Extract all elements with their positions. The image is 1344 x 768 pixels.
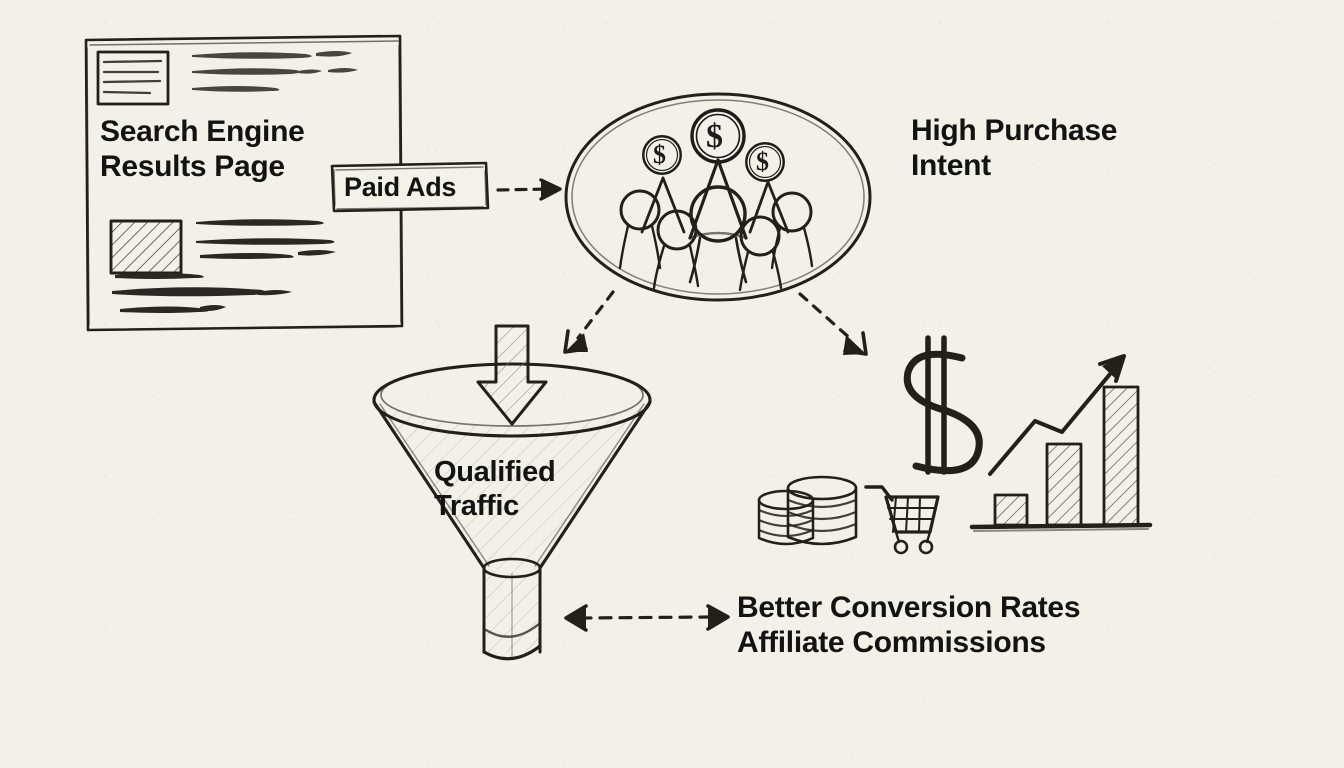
bar-3 xyxy=(1104,387,1138,525)
dollar-glyph-right: $ xyxy=(756,147,769,177)
arrow-audience-to-funnel xyxy=(565,292,613,352)
serp-result-thumbnail-top xyxy=(98,52,168,104)
growth-bar-chart xyxy=(972,356,1150,531)
arrow-into-funnel xyxy=(478,326,546,424)
label-paid-ads[interactable]: Paid Ads xyxy=(344,172,456,204)
label-outcomes: Better Conversion Rates Affiliate Commis… xyxy=(737,590,1080,661)
label-high-purchase-intent: High Purchase Intent xyxy=(911,113,1117,184)
serp-ad-thumbnail xyxy=(111,221,181,273)
arrow-audience-to-revenue xyxy=(800,294,866,355)
bar-1 xyxy=(995,495,1027,525)
dollar-sign-icon xyxy=(907,338,979,472)
diagram-canvas: Search Engine Results Page Paid Ads High… xyxy=(0,0,1344,768)
label-search-engine-results-page: Search Engine Results Page xyxy=(100,114,305,185)
arrow-paidads-to-audience xyxy=(498,180,560,199)
audience-people xyxy=(620,160,812,290)
arrow-funnel-to-outcomes xyxy=(566,606,728,630)
bar-2 xyxy=(1047,444,1081,525)
dollar-glyph-center: $ xyxy=(706,118,723,156)
shopping-cart-icon xyxy=(866,487,938,553)
label-qualified-traffic: Qualified Traffic xyxy=(434,455,555,523)
dollar-glyph-left: $ xyxy=(653,140,666,170)
serp-text-lines-top xyxy=(192,51,358,92)
